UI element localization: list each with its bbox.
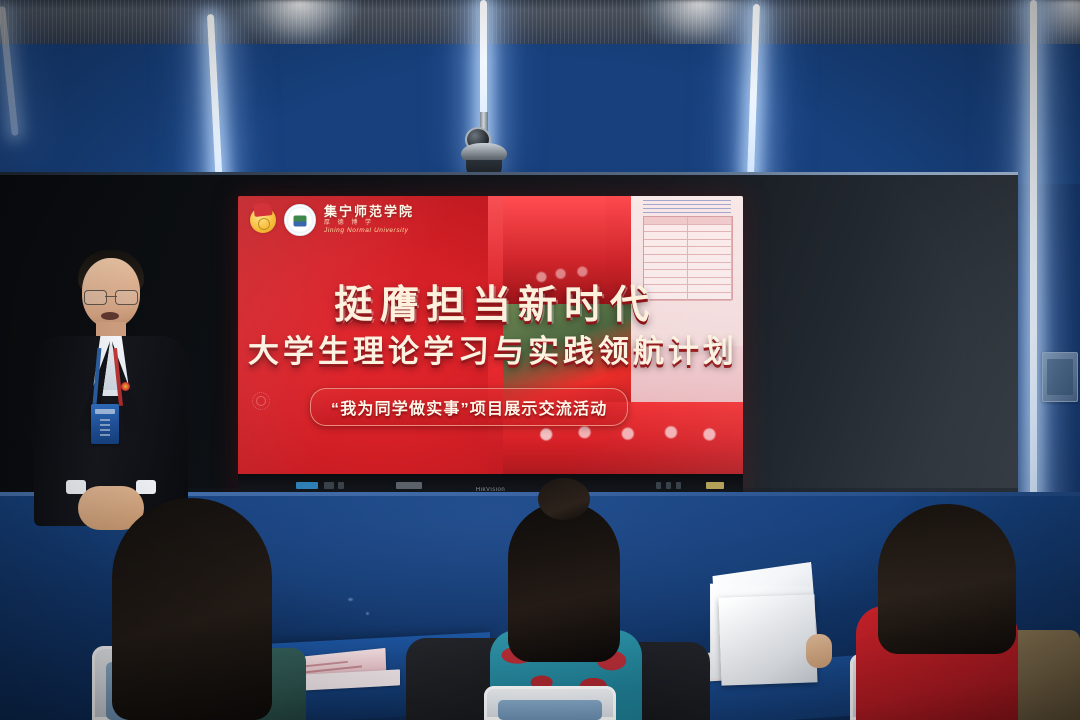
circular-seal-watermark-icon — [252, 392, 270, 410]
led-video-wall[interactable]: 集宁师范学院 厚 德 博 学 Jining Normal University … — [238, 196, 743, 496]
paper-sheet — [718, 594, 817, 685]
audience-member-right — [878, 504, 1016, 654]
slide-title-line-1: 挺膺担当新时代 — [334, 274, 743, 330]
audience-member-center-bun — [538, 478, 590, 520]
chair-center-cushion — [498, 700, 602, 720]
presenter-mouth — [101, 312, 119, 320]
slide-logo-row: 集宁师范学院 厚 德 博 学 Jining Normal University — [250, 204, 414, 236]
presentation-slide: 集宁师范学院 厚 德 博 学 Jining Normal University … — [238, 196, 743, 474]
presenter-cuff — [66, 480, 86, 494]
slide-subtitle-pill: “我为同学做实事”项目展示交流活动 — [310, 388, 628, 426]
communist-youth-league-emblem-icon — [250, 207, 276, 233]
audience-member-left — [112, 498, 272, 720]
presenter-id-badge — [91, 404, 119, 444]
university-motto-cn: 厚 德 博 学 — [324, 220, 414, 226]
university-seal-icon — [284, 204, 316, 236]
conference-room-photo: 集宁师范学院 厚 德 博 学 Jining Normal University … — [0, 0, 1080, 720]
table-photo-note — [643, 200, 731, 214]
led-strip-4 — [1030, 0, 1037, 540]
lapel-pin-icon — [121, 382, 130, 391]
presenter-cuff — [136, 480, 156, 494]
glasses-icon — [84, 290, 138, 303]
panel-top-highlight — [0, 172, 1018, 175]
audience-member-center — [508, 502, 620, 662]
university-name-block: 集宁师范学院 厚 德 博 学 Jining Normal University — [324, 205, 414, 235]
wall-scuff — [366, 612, 369, 615]
wall-control-plate[interactable] — [1042, 352, 1078, 402]
slide-title-line-2: 大学生理论学习与实践领航计划 — [248, 326, 743, 371]
upper-wall — [0, 44, 1080, 184]
university-name-cn: 集宁师范学院 — [324, 205, 414, 218]
wall-scuff — [348, 598, 353, 601]
university-name-en: Jining Normal University — [324, 228, 414, 235]
audience-member-right-hand — [806, 634, 832, 668]
slide-subtitle: “我为同学做实事”项目展示交流活动 — [331, 401, 607, 418]
